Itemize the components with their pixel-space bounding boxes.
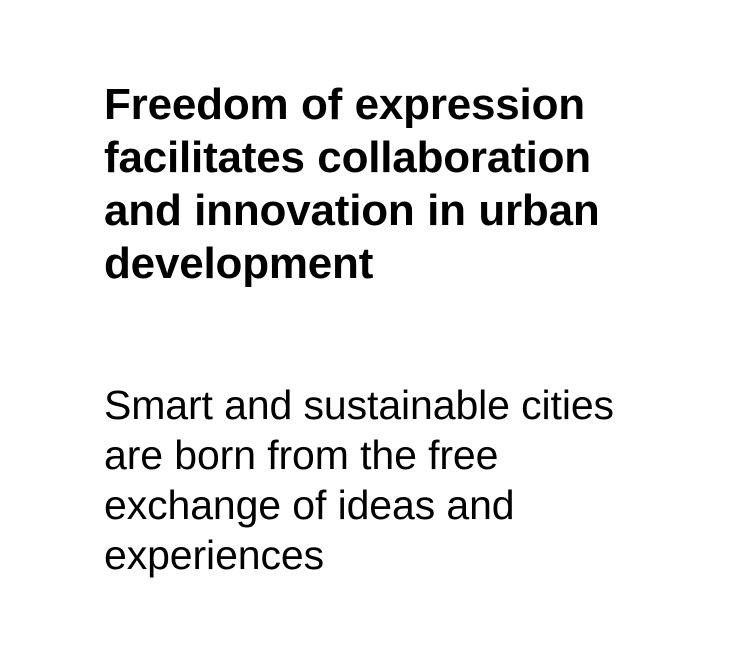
slide-canvas: Freedom of expression facilitates collab… [0, 0, 750, 650]
page-title: Freedom of expression facilitates collab… [104, 78, 604, 290]
headline-block: Freedom of expression facilitates collab… [104, 78, 644, 290]
page-subtitle: Smart and sustainable cities are born fr… [104, 380, 644, 580]
